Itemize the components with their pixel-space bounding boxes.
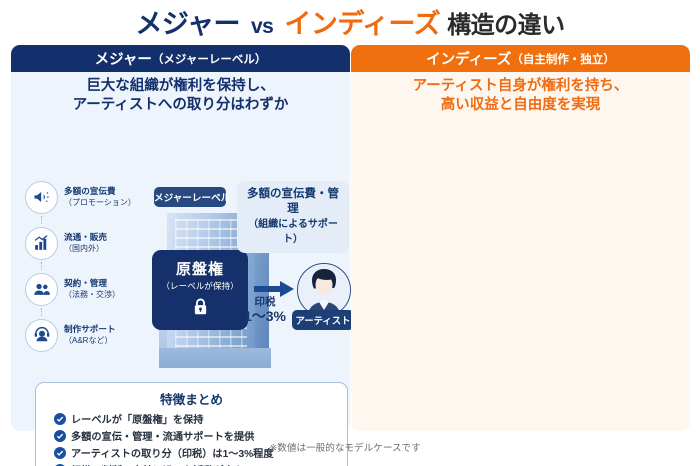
list-item-text: 制作サポート （A&Rなど） [64, 324, 116, 347]
indies-lead-line2: 高い収益と自由度を実現 [351, 96, 690, 115]
list-item: 契約・管理 （法務・交渉） [25, 270, 157, 308]
list-item-title: 契約・管理 [64, 278, 120, 290]
major-panel: メジャー （メジャーレーベル） 巨大な組織が権利を保持し、 アーティストへの取り… [11, 45, 350, 431]
title-vs: vs [247, 15, 277, 38]
major-support-callout: 多額の宣伝費・管理 （組織によるサポート） [237, 181, 349, 253]
connector-dots [41, 262, 42, 270]
major-panel-header: メジャー （メジャーレーベル） [11, 45, 350, 72]
major-label-chip: メジャーレーベル [154, 187, 226, 207]
list-item-text: 多額の宣伝費 （プロモーション） [64, 186, 136, 209]
list-item: 多額の宣伝費 （プロモーション） [25, 178, 157, 216]
list-item-title: 制作サポート [64, 324, 116, 336]
major-rights-title: 原盤権 [152, 258, 248, 279]
major-lead-line1: 巨大な組織が権利を保持し、 [11, 77, 350, 96]
indies-panel-header: インディーズ （自主制作・独立） [351, 45, 690, 72]
major-callout-line2: （組織によるサポート） [245, 217, 341, 247]
check-icon [54, 413, 66, 425]
list-item-title: 流通・販売 [64, 232, 107, 244]
list-item: レーベルが「原盤権」を保持 [54, 411, 337, 426]
avatar [297, 263, 351, 317]
list-item: 組織の判断・方針に沿った活動が中心 [54, 462, 337, 466]
title-suffix: 構造の違い [447, 12, 565, 39]
royalty-rate-label: 印税 [241, 295, 289, 309]
list-item-text: 契約・管理 （法務・交渉） [64, 278, 120, 301]
major-callout-line1: 多額の宣伝費・管理 [245, 187, 341, 217]
people-icon [25, 273, 58, 306]
major-lead: 巨大な組織が権利を保持し、 アーティストへの取り分はわずか [11, 77, 350, 115]
connector-dots [41, 308, 42, 316]
title-major: メジャー [135, 9, 240, 39]
title-indies: インディーズ [284, 9, 440, 39]
major-header-main: メジャー [95, 48, 152, 69]
megaphone-icon [25, 181, 58, 214]
list-item: 流通・販売 （国内外） [25, 224, 157, 262]
indies-header-main: インディーズ [426, 48, 511, 69]
major-role-list: 多額の宣伝費 （プロモーション） 流通・販売 （国内外） [25, 178, 157, 362]
indies-header-sub: （自主制作・独立） [511, 51, 615, 67]
list-item-sub: （国内外） [64, 243, 107, 255]
indies-lead: アーティスト自身が権利を持ち、 高い収益と自由度を実現 [351, 77, 690, 115]
indies-lead-line1: アーティスト自身が権利を持ち、 [351, 77, 690, 96]
list-item-text: 流通・販売 （国内外） [64, 232, 107, 255]
list-item-label: レーベルが「原盤権」を保持 [71, 411, 203, 426]
indies-panel: インディーズ （自主制作・独立） アーティスト自身が権利を持ち、 高い収益と自由… [351, 45, 690, 431]
infographic-root: メジャー vs インディーズ 構造の違い メジャー （メジャーレーベル） 巨大な… [0, 0, 700, 466]
major-summary-title: 特徴まとめ [46, 389, 337, 408]
major-lead-line2: アーティストへの取り分はわずか [11, 96, 350, 115]
lock-icon [192, 297, 209, 321]
page-title: メジャー vs インディーズ 構造の違い [0, 6, 700, 45]
royalty-rate: 印税 1〜3% [241, 295, 289, 323]
list-item-sub: （プロモーション） [64, 197, 136, 209]
list-item-sub: （A&Rなど） [64, 335, 116, 347]
list-item: 制作サポート （A&Rなど） [25, 316, 157, 354]
major-rights-box: 原盤権 （レーベルが保持） [152, 250, 248, 330]
bar-chart-icon [25, 227, 58, 260]
connector-dots [41, 216, 42, 224]
headset-support-icon [25, 319, 58, 352]
major-artist-chip: アーティスト [292, 310, 354, 330]
major-rights-sub: （レーベルが保持） [152, 280, 248, 292]
royalty-rate-value: 1〜3% [241, 309, 289, 323]
list-item-sub: （法務・交渉） [64, 289, 120, 301]
list-item-label: 組織の判断・方針に沿った活動が中心 [71, 462, 244, 466]
footnote: ※数値は一般的なモデルケースです [0, 440, 690, 454]
list-item-title: 多額の宣伝費 [64, 186, 136, 198]
major-header-sub: （メジャーレーベル） [152, 51, 266, 67]
